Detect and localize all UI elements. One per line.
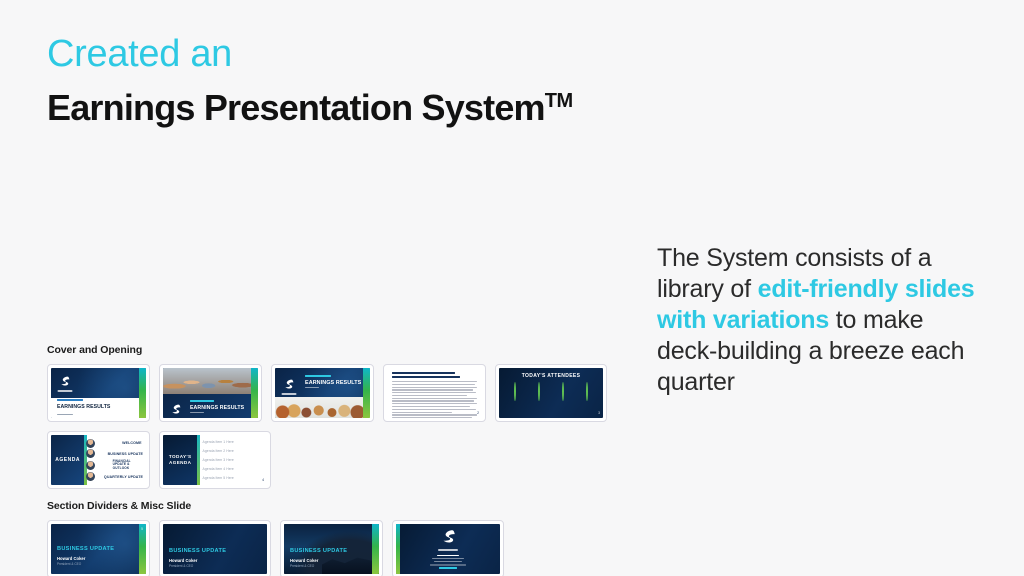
slide-canvas: AGENDA WELCOME BUSINESS UPDATE FINANCIAL… [51,435,146,485]
slide-thumbnail-todays-agenda[interactable]: TODAY'S AGENDA Agenda Item 1 Here Agenda… [159,431,271,489]
agenda-item: Agenda Item 5 Here [203,476,263,480]
slide-subtitle [190,412,204,413]
attendee-item [529,383,548,401]
slide-title: EARNINGS RESULTS [57,404,110,410]
accent-stripes [363,368,370,418]
sonoco-logo-icon [169,403,182,416]
body-copy: The System consists of a library of edit… [657,243,987,398]
slide-canvas: EARNINGS RESULTS [275,368,370,418]
group-label: Section Dividers & Misc Slide [47,500,607,512]
slide-thumbnail-forward-looking-statements[interactable]: 2 [383,364,486,422]
attendee-list [505,383,597,401]
slide-thumbnail-divider-business-update-dark[interactable]: BUSINESS UPDATE Howard Coker President &… [159,520,271,576]
accent-stripes [197,435,200,485]
attendee-item [554,383,573,401]
presenter-role: President & CEO [290,564,314,568]
avatar [86,472,95,481]
closing-content [396,524,500,574]
logo-wordmark [281,393,296,395]
avatar [86,461,95,470]
accent-stripes [251,368,258,418]
agenda-item: WELCOME [86,439,143,448]
legal-title-line-2 [392,376,460,378]
people-photo [163,368,258,394]
headline-main: Earnings Presentation SystemTM [47,78,573,131]
agenda-item: Agenda Item 3 Here [203,458,263,462]
agenda-topic: BUSINESS UPDATE [108,452,143,456]
slide-thumbnail-cover-photo-top[interactable]: EARNINGS RESULTS [159,364,262,422]
accent-stripes [139,368,146,418]
presenter-name: Howard Coker [290,558,318,563]
agenda-item: QUARTERLY UPDATE [86,472,143,481]
avatar [514,382,516,401]
presenter-name: Howard Coker [169,558,197,563]
avatar [538,382,540,401]
thumbnail-row: BUSINESS UPDATE Howard Coker President &… [47,520,607,576]
gallery-group-section-dividers: Section Dividers & Misc Slide BUSINESS U… [47,500,607,576]
agenda-rail: TODAY'S AGENDA [163,435,197,485]
sonoco-logo-icon [58,375,71,388]
gallery-group-cover-and-opening: Cover and Opening EARNINGS RESULTS [47,344,607,489]
avatar [586,382,588,401]
slide-thumbnail-divider-business-update-photo[interactable]: BUSINESS UPDATE Howard Coker President &… [280,520,383,576]
slide-canvas: BUSINESS UPDATE Howard Coker President &… [284,524,379,574]
slide-gallery: Cover and Opening EARNINGS RESULTS [47,344,607,576]
agenda-rail-label: TODAY'S AGENDA [169,454,192,466]
contact-link[interactable] [439,567,457,568]
contact-role [432,558,464,559]
slide-canvas: 2 [387,368,482,418]
contact-email [434,561,462,562]
trademark-symbol: TM [545,90,573,112]
slide-eyebrow [57,399,83,401]
slide-thumbnail-divider-business-update[interactable]: BUSINESS UPDATE Howard Coker President &… [47,520,150,576]
agenda-item: FINANCIAL UPDATE & OUTLOOK [86,460,143,471]
logo-wordmark [438,549,458,551]
slide-canvas: BUSINESS UPDATE Howard Coker President &… [163,524,267,574]
slide-title: BUSINESS UPDATE [169,548,226,554]
slide-title: TODAY'S ATTENDEES [499,373,603,379]
slide-canvas: BUSINESS UPDATE Howard Coker President &… [51,524,146,574]
agenda-topic: FINANCIAL UPDATE & OUTLOOK [113,460,143,471]
slide-title: EARNINGS RESULTS [190,405,244,411]
thumbnail-row: EARNINGS RESULTS EARNINGS RESULTS [47,364,607,422]
agenda-topic: QUARTERLY UPDATE [104,475,143,479]
legal-body [392,381,477,418]
attendee-item [505,383,524,401]
attendee-item [578,383,597,401]
agenda-topic: WELCOME [122,441,141,445]
legal-title-line-1 [392,372,455,374]
avatar [86,449,95,458]
avatar [562,382,564,401]
caption-band: EARNINGS RESULTS [51,398,139,418]
agenda-item: Agenda Item 1 Here [203,440,263,444]
agenda-item-list: WELCOME BUSINESS UPDATE FINANCIAL UPDATE… [86,438,143,482]
slide-subtitle [57,414,73,416]
contact-note [430,564,466,565]
page-number: 3 [598,411,600,415]
slide-title: EARNINGS RESULTS [305,380,361,386]
contact-name [437,555,458,556]
slide-canvas: EARNINGS RESULTS [163,368,258,418]
headline-eyebrow: Created an [47,30,573,78]
agenda-rail-line-1: TODAY'S [169,454,192,459]
slide-canvas: TODAY'S AGENDA Agenda Item 1 Here Agenda… [163,435,267,485]
page-title: Created an Earnings Presentation SystemT… [47,30,573,131]
thumbnail-row: AGENDA WELCOME BUSINESS UPDATE FINANCIAL… [47,431,607,489]
headline-main-text: Earnings Presentation System [47,87,545,128]
agenda-item-list: Agenda Item 1 Here Agenda Item 2 Here Ag… [203,440,263,480]
page-number: 2 [477,411,479,415]
slide-canvas: EARNINGS RESULTS [51,368,146,418]
slide-thumbnail-todays-attendees[interactable]: TODAY'S ATTENDEES 3 [495,364,607,422]
slide-title: BUSINESS UPDATE [290,548,347,554]
presenter-role: President & CEO [57,562,81,566]
slide-thumbnail-closing-contact[interactable] [392,520,504,576]
logo-wordmark [57,390,72,392]
slide-canvas: TODAY'S ATTENDEES 3 [499,368,603,418]
presenter-name: Howard Coker [57,556,85,561]
slide-canvas [396,524,500,574]
avatar [86,439,95,448]
slide-subtitle [305,387,319,388]
caption-band: EARNINGS RESULTS [163,394,258,418]
product-photo [275,397,370,418]
slide-eyebrow [305,375,331,377]
sonoco-logo-icon [282,378,295,391]
slide-thumbnail-agenda-with-presenters[interactable]: AGENDA WELCOME BUSINESS UPDATE FINANCIAL… [47,431,150,489]
agenda-item: Agenda Item 4 Here [203,467,263,471]
presenter-role: President & CEO [169,564,193,568]
accent-stripes [372,524,379,574]
group-label: Cover and Opening [47,344,607,356]
page-number: 5 [141,527,143,531]
agenda-rail: AGENDA [51,435,84,485]
slide-thumbnail-cover-logo-top[interactable]: EARNINGS RESULTS [47,364,150,422]
sonoco-logo-icon [439,528,457,546]
slide-eyebrow [190,400,214,402]
agenda-rail-line-2: AGENDA [169,460,191,465]
legal-title [392,372,477,379]
agenda-rail-label: AGENDA [55,457,80,463]
agenda-item: Agenda Item 2 Here [203,449,263,453]
page-number: 4 [262,478,264,482]
accent-stripes [139,524,146,574]
agenda-item: BUSINESS UPDATE [86,449,143,458]
slide-title: BUSINESS UPDATE [57,546,114,552]
slide-thumbnail-cover-photo-bottom[interactable]: EARNINGS RESULTS [271,364,374,422]
closing-contact-block [425,555,471,570]
